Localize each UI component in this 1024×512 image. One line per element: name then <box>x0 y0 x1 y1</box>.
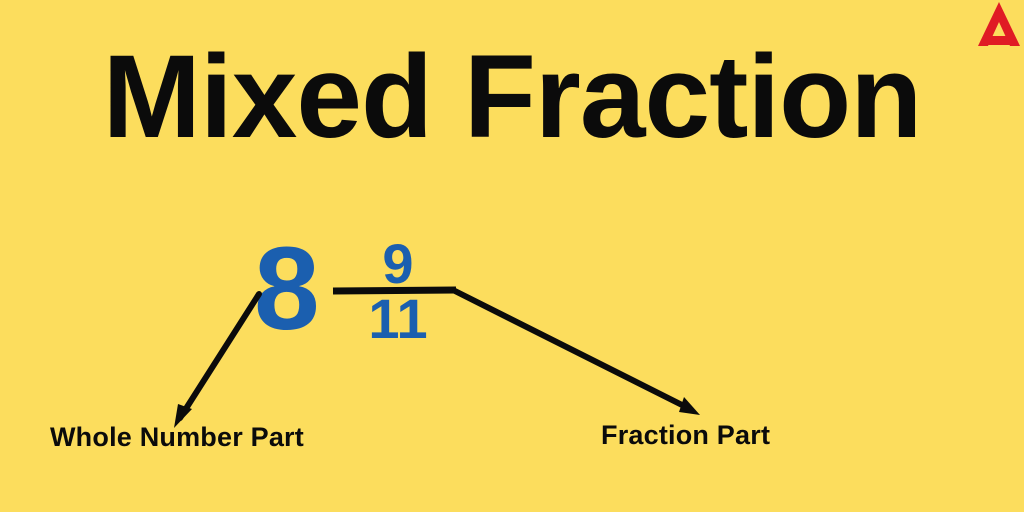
callout-label-fraction: Fraction Part <box>601 419 770 451</box>
fraction-value: 9 11 <box>333 238 463 348</box>
fraction-numerator: 9 <box>333 238 463 290</box>
callout-label-whole-number: Whole Number Part <box>50 421 304 453</box>
whole-number-arrow <box>174 294 259 428</box>
whole-number-value: 8 <box>254 230 320 348</box>
slide-canvas: Mixed Fraction 8 9 11 Whole Number Part … <box>0 0 1024 512</box>
mixed-fraction-expression: 8 9 11 <box>250 228 510 358</box>
fraction-denominator: 11 <box>333 290 463 348</box>
page-title: Mixed Fraction <box>0 38 1024 156</box>
